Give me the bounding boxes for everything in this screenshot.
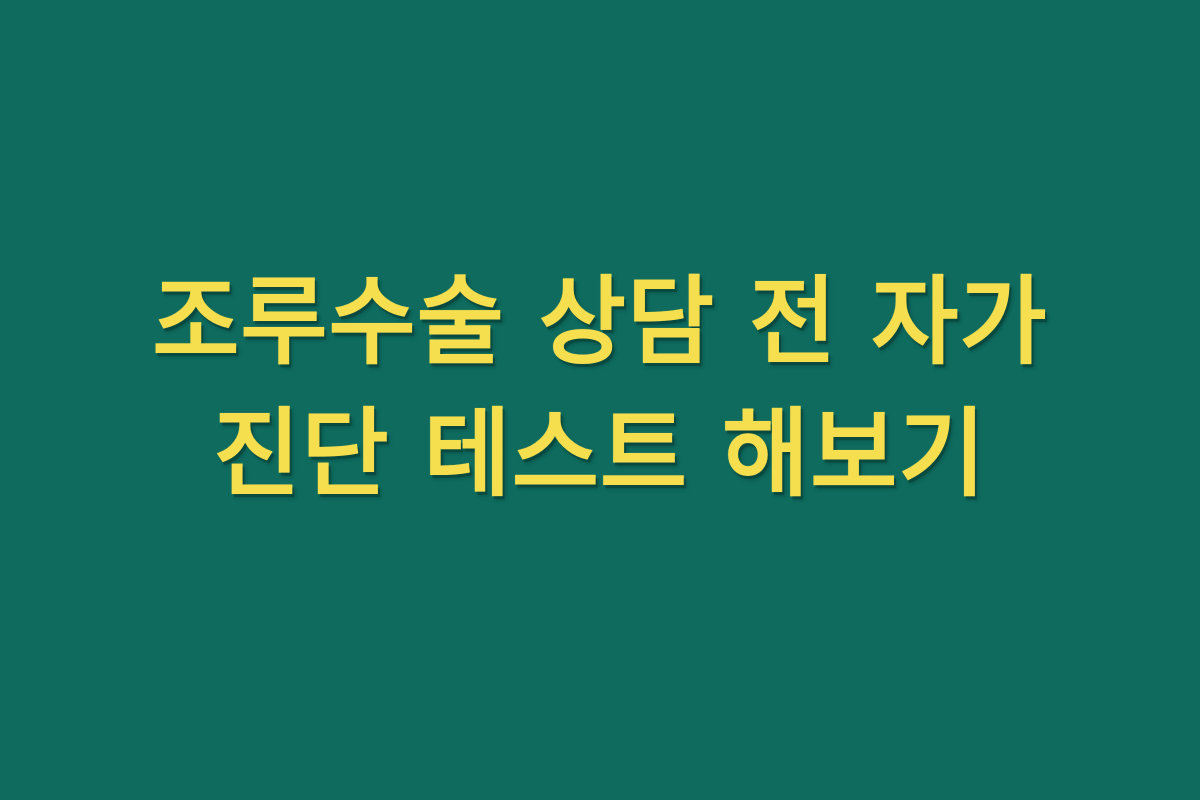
headline-block: 조루수술 상담 전 자가 진단 테스트 해보기: [0, 254, 1200, 523]
headline-line-2: 진단 테스트 해보기: [9, 386, 1191, 522]
headline-line-1: 조루수술 상담 전 자가: [9, 254, 1191, 390]
banner-canvas: 조루수술 상담 전 자가 진단 테스트 해보기: [0, 0, 1200, 800]
